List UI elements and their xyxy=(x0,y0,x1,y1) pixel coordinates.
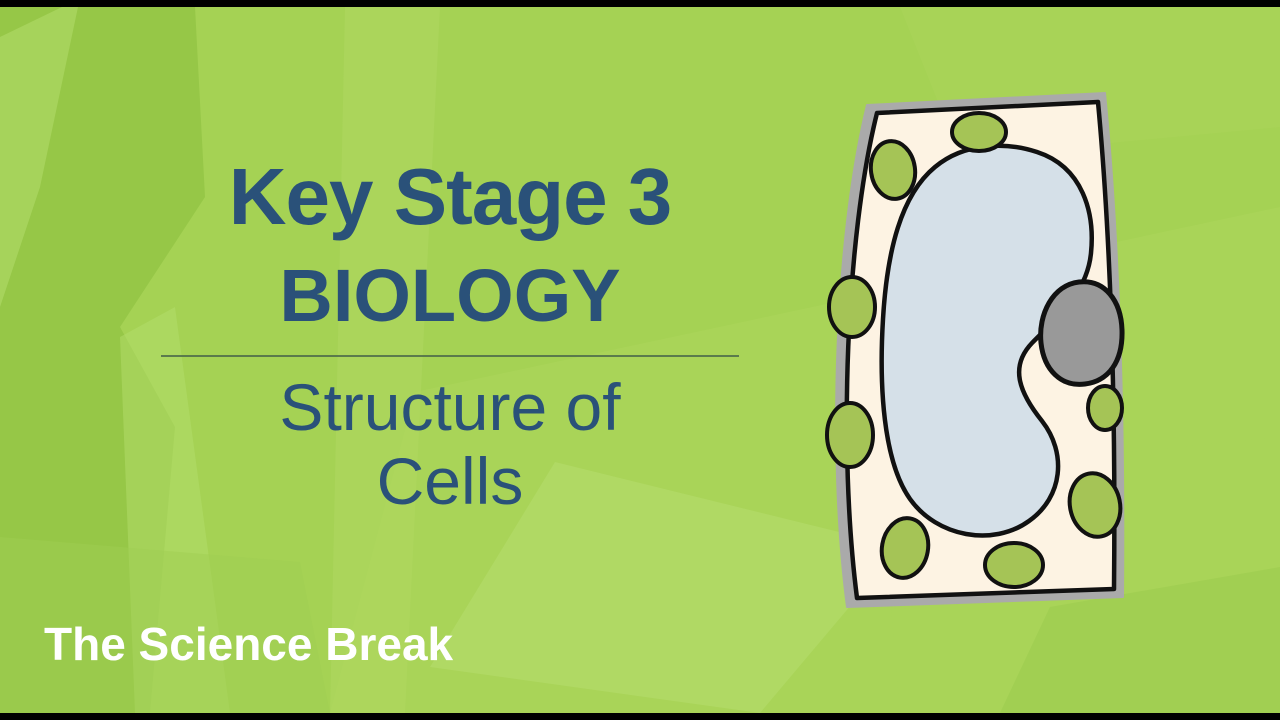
title-text-block: Key Stage 3 BIOLOGY Structure of Cells xyxy=(150,157,750,519)
plant-cell-diagram xyxy=(805,85,1150,615)
chloroplast-6 xyxy=(985,543,1043,587)
nucleus-shape xyxy=(1041,282,1122,385)
channel-name: The Science Break xyxy=(44,617,453,671)
page-title-line1: Key Stage 3 xyxy=(150,157,750,237)
page-title-line2: BIOLOGY xyxy=(150,259,750,333)
title-slide: Key Stage 3 BIOLOGY Structure of Cells T… xyxy=(0,0,1280,720)
title-divider xyxy=(161,355,739,357)
chloroplast-1 xyxy=(952,113,1006,151)
chloroplast-8 xyxy=(1088,386,1122,430)
letterbox-bar-bottom xyxy=(0,713,1280,720)
slide-canvas: Key Stage 3 BIOLOGY Structure of Cells T… xyxy=(0,7,1280,713)
letterbox-bar-top xyxy=(0,0,1280,7)
subtitle-line2: Cells xyxy=(150,445,750,519)
subtitle-line1: Structure of xyxy=(150,371,750,445)
chloroplast-3 xyxy=(829,277,875,337)
chloroplast-4 xyxy=(827,403,873,467)
